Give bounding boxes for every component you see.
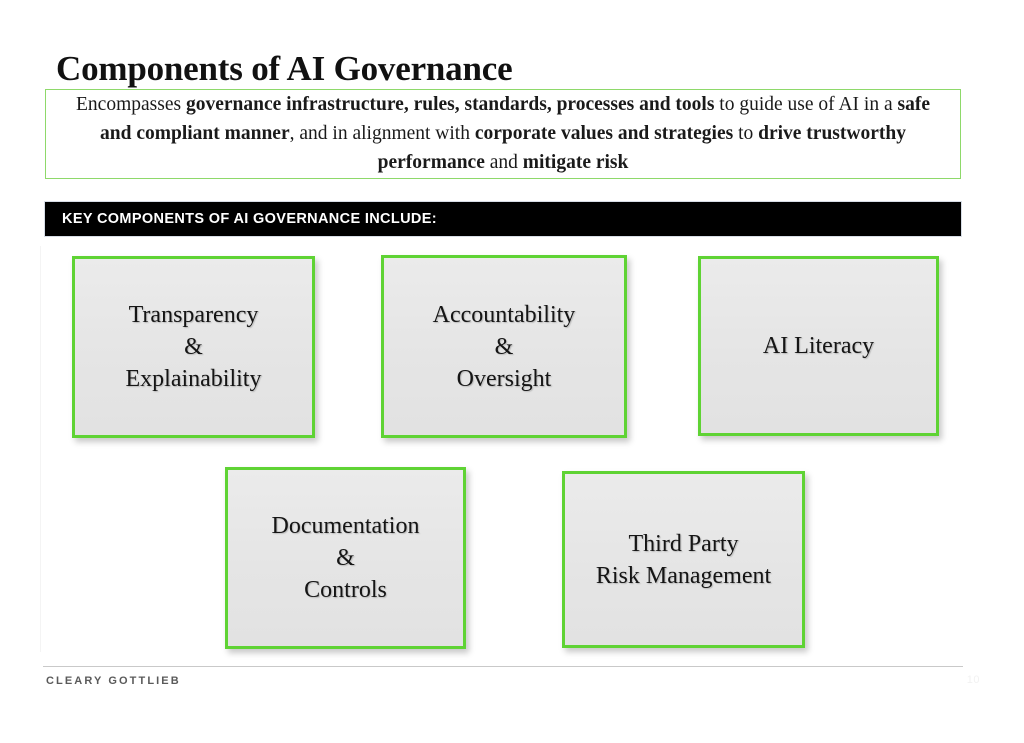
footer-page-number: 10 [967,674,980,686]
component-label: Documentation & Controls [272,510,420,606]
footer-divider [43,666,963,667]
component-label: Third Party Risk Management [596,528,771,592]
slide-canvas: Components of AI Governance Encompasses … [0,0,1024,743]
component-label: Accountability & Oversight [433,299,576,395]
desc-seg-2: to guide use of AI in a [714,94,897,115]
page-title: Components of AI Governance [56,49,512,89]
component-label: Transparency & Explainability [126,299,262,395]
desc-seg-6: to [733,123,758,144]
footer-brand-wordmark: CLEARY GOTTLIEB [46,675,181,687]
description-callout-box: Encompasses governance infrastructure, r… [45,89,961,179]
desc-seg-0: Encompasses [76,94,186,115]
desc-seg-9: mitigate risk [523,152,629,173]
component-box-transparency: Transparency & Explainability [72,256,315,438]
component-label: AI Literacy [763,330,874,362]
desc-seg-8: and [485,152,523,173]
description-text: Encompasses governance infrastructure, r… [60,90,946,177]
left-margin-rule [40,246,41,652]
desc-seg-5: corporate values and strategies [475,123,733,144]
desc-seg-1: governance infrastructure, rules, standa… [186,94,714,115]
component-box-third-party: Third Party Risk Management [562,471,805,648]
component-box-ai-literacy: AI Literacy [698,256,939,436]
component-box-accountability: Accountability & Oversight [381,255,627,438]
component-box-documentation: Documentation & Controls [225,467,466,649]
section-banner: KEY COMPONENTS OF AI GOVERNANCE INCLUDE: [44,201,962,237]
section-banner-label: KEY COMPONENTS OF AI GOVERNANCE INCLUDE: [45,211,437,227]
desc-seg-4: , and in alignment with [290,123,475,144]
